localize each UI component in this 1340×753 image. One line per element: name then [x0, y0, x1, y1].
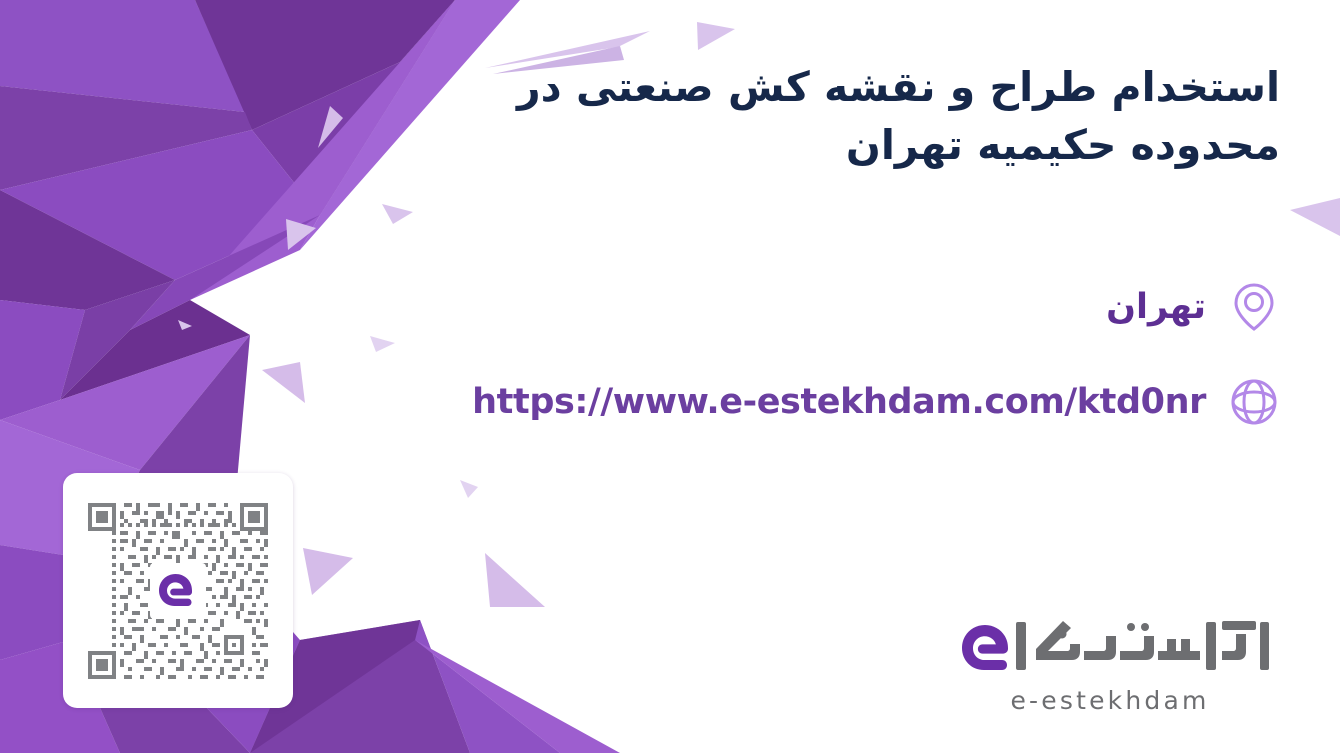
brand-wordmark-fa	[950, 612, 1270, 686]
job-ad-card: استخدام طراح و نقشه کش صنعتی در محدوده ح…	[0, 0, 1340, 753]
qr-code-card[interactable]	[63, 473, 293, 708]
brand-logo: e-estekhdam	[950, 612, 1270, 720]
qr-center-logo	[150, 563, 206, 619]
page-title: استخدام طراح و نقشه کش صنعتی در محدوده ح…	[440, 58, 1280, 174]
globe-icon	[1228, 376, 1280, 428]
e-mark-icon	[154, 567, 202, 615]
qr-code[interactable]	[80, 491, 276, 691]
url-link[interactable]: https://www.e-estekhdam.com/ktd0nr	[472, 382, 1206, 422]
url-row[interactable]: https://www.e-estekhdam.com/ktd0nr	[472, 372, 1280, 432]
map-pin-icon	[1228, 281, 1280, 333]
content-layer: استخدام طراح و نقشه کش صنعتی در محدوده ح…	[0, 0, 1340, 753]
brand-wordmark-en: e-estekhdam	[950, 686, 1270, 715]
location-row: تهران	[1106, 277, 1280, 337]
location-text: تهران	[1106, 287, 1206, 327]
